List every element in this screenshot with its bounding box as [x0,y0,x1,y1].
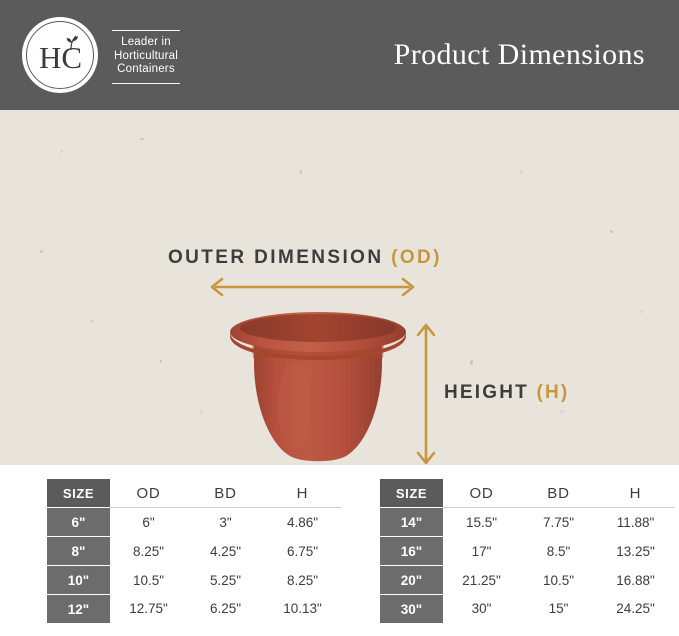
table-row: 14" 15.5" 7.75" 11.88" [380,508,674,537]
cell-bd: 3" [187,508,264,537]
cell-h: 8.25" [264,566,341,595]
texture-speck [90,320,94,323]
page-title: Product Dimensions [394,38,645,72]
cell-od: 12.75" [110,595,187,624]
column-header-h: H [597,479,674,508]
cell-size: 30" [380,595,443,624]
outer-dimension-text: OUTER DIMENSION [168,247,383,268]
cell-bd: 5.25" [187,566,264,595]
leaf-sprout-icon [60,33,82,51]
texture-speck [140,138,144,140]
diagram-panel: OUTER DIMENSION (OD) HEIGHT (H) BASE DIM… [0,110,679,465]
pot-body [254,346,382,461]
cell-h: 6.75" [264,537,341,566]
planter-pot-image [228,306,408,465]
column-header-size: SIZE [380,479,443,508]
cell-od: 10.5" [110,566,187,595]
header-bar: HC Leader in Horticultural Containers Pr… [0,0,679,110]
column-header-h: H [264,479,341,508]
texture-speck [610,230,613,233]
cell-size: 10" [47,566,110,595]
brand-tagline: Leader in Horticultural Containers [110,26,182,84]
dimension-table-large: SIZE OD BD H 14" 15.5" 7.75" 11.88" 16" … [380,479,674,623]
cell-bd: 7.75" [520,508,597,537]
height-arrow-icon [415,318,437,465]
cell-bd: 10.5" [520,566,597,595]
dimension-table-small: SIZE OD BD H 6" 6" 3" 4.86" 8" 8.25" 4.2… [47,479,341,623]
height-code: (H) [536,382,569,403]
outer-dimension-arrow-icon [205,276,420,298]
table-row: 8" 8.25" 4.25" 6.75" [47,537,341,566]
cell-h: 11.88" [597,508,674,537]
cell-od: 8.25" [110,537,187,566]
texture-speck [520,170,523,174]
column-header-size: SIZE [47,479,110,508]
texture-speck [300,170,302,174]
cell-od: 21.25" [443,566,520,595]
tagline-line-1: Leader in [114,36,178,50]
texture-speck [640,310,643,313]
cell-h: 13.25" [597,537,674,566]
tagline-line-2: Horticultural [114,50,178,64]
cell-size: 8" [47,537,110,566]
dimension-tables: SIZE OD BD H 6" 6" 3" 4.86" 8" 8.25" 4.2… [0,465,679,636]
outer-dimension-label: OUTER DIMENSION (OD) [168,247,442,269]
cell-bd: 4.25" [187,537,264,566]
column-header-od: OD [443,479,520,508]
hc-logo: HC [22,17,98,93]
cell-od: 17" [443,537,520,566]
cell-bd: 6.25" [187,595,264,624]
texture-speck [560,410,564,413]
tagline-text: Leader in Horticultural Containers [110,36,182,77]
column-header-bd: BD [520,479,597,508]
table-row: 12" 12.75" 6.25" 10.13" [47,595,341,624]
pot-opening [240,314,396,342]
cell-od: 30" [443,595,520,624]
cell-bd: 8.5" [520,537,597,566]
product-dimensions-infographic: HC Leader in Horticultural Containers Pr… [0,0,679,636]
cell-bd: 15" [520,595,597,624]
cell-h: 4.86" [264,508,341,537]
pot-highlight [278,362,310,450]
cell-size: 14" [380,508,443,537]
height-text: HEIGHT [444,382,529,403]
cell-size: 16" [380,537,443,566]
cell-h: 10.13" [264,595,341,624]
table-row: 10" 10.5" 5.25" 8.25" [47,566,341,595]
texture-speck [200,410,203,413]
texture-speck [160,360,162,363]
table-header-row: SIZE OD BD H [47,479,341,508]
texture-speck [60,150,63,153]
cell-h: 24.25" [597,595,674,624]
table-row: 20" 21.25" 10.5" 16.88" [380,566,674,595]
cell-size: 12" [47,595,110,624]
table-row: 6" 6" 3" 4.86" [47,508,341,537]
outer-dimension-code: (OD) [391,247,442,268]
cell-size: 6" [47,508,110,537]
cell-size: 20" [380,566,443,595]
tagline-rule-top [112,30,180,31]
tagline-line-3: Containers [114,63,178,77]
column-header-od: OD [110,479,187,508]
cell-h: 16.88" [597,566,674,595]
height-label: HEIGHT (H) [444,382,569,404]
texture-speck [470,360,473,365]
brand-lockup: HC Leader in Horticultural Containers [22,17,182,93]
column-header-bd: BD [187,479,264,508]
table-row: 16" 17" 8.5" 13.25" [380,537,674,566]
cell-od: 15.5" [443,508,520,537]
cell-od: 6" [110,508,187,537]
texture-speck [40,250,43,253]
table-header-row: SIZE OD BD H [380,479,674,508]
table-row: 30" 30" 15" 24.25" [380,595,674,624]
tagline-rule-bottom [112,83,180,84]
